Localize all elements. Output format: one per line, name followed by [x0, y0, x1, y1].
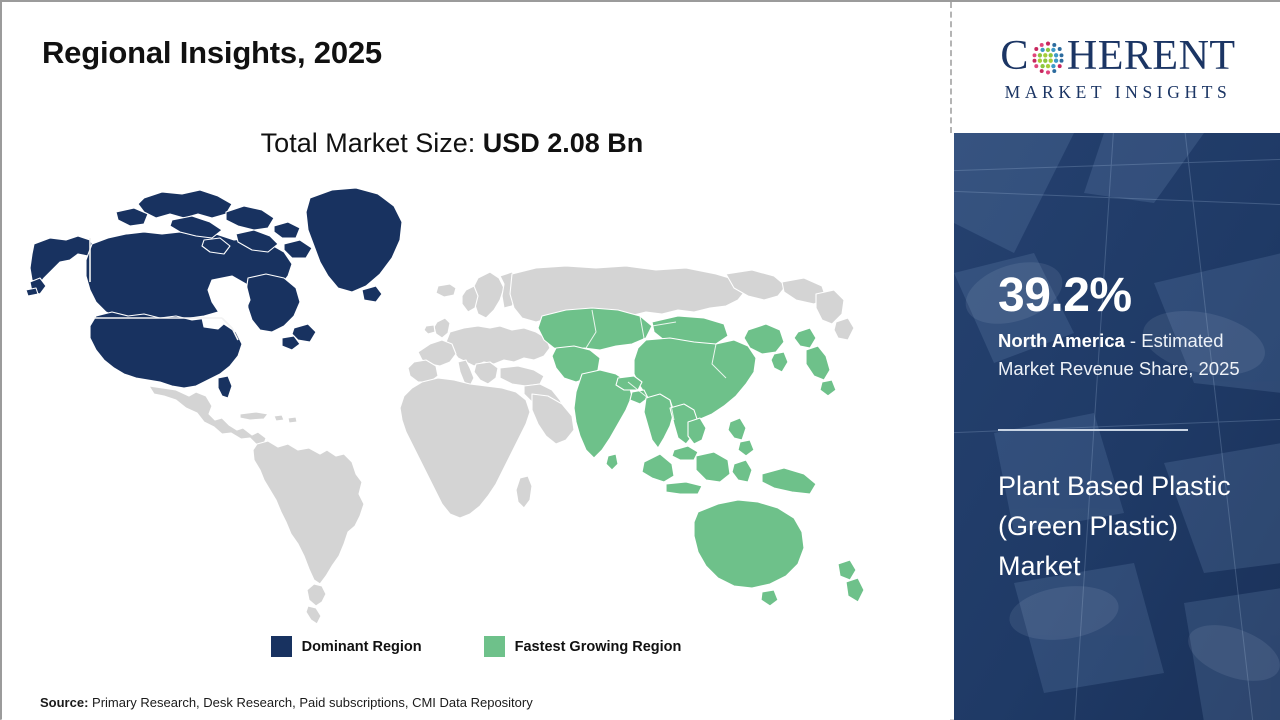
source-text: Primary Research, Desk Research, Paid su…: [88, 695, 532, 710]
page-title: Regional Insights, 2025: [42, 35, 382, 71]
total-market-size: Total Market Size: USD 2.08 Bn: [2, 128, 902, 159]
market-share-percent: 39.2%: [998, 272, 1132, 320]
brand-logo: C: [954, 2, 1280, 133]
slide-canvas: Regional Insights, 2025 Total Market Siz…: [0, 0, 1280, 720]
total-market-size-value: USD 2.08 Bn: [483, 128, 644, 158]
total-market-size-label: Total Market Size:: [261, 128, 483, 158]
world-map-svg: [26, 182, 906, 632]
info-panel: 39.2% North America - Estimated Market R…: [954, 133, 1280, 720]
world-map-container: [26, 182, 906, 632]
market-share-description: North America - Estimated Market Revenue…: [998, 327, 1250, 383]
legend-item-dominant: Dominant Region: [271, 636, 422, 657]
globe-dots-icon: [1030, 40, 1066, 76]
square-swatch-icon-fastest-growing: [484, 636, 505, 657]
right-panel: C: [954, 2, 1280, 720]
source-note: Source: Primary Research, Desk Research,…: [40, 695, 533, 710]
main-content-area: Regional Insights, 2025 Total Market Siz…: [2, 2, 950, 720]
panel-horizontal-rule: [998, 429, 1188, 431]
legend-label-dominant: Dominant Region: [302, 639, 422, 655]
square-swatch-icon-dominant: [271, 636, 292, 657]
logo-wordmark: C: [1000, 32, 1235, 80]
vertical-dashed-divider: [950, 2, 952, 133]
logo-word-herent: HERENT: [1067, 35, 1236, 77]
source-label: Source:: [40, 695, 88, 710]
info-panel-content: 39.2% North America - Estimated Market R…: [998, 133, 1248, 720]
market-share-region: North America: [998, 330, 1125, 351]
legend-label-fastest-growing: Fastest Growing Region: [515, 639, 682, 655]
logo-letter-c: C: [1000, 35, 1029, 77]
market-name: Plant Based Plastic (Green Plastic) Mark…: [998, 467, 1248, 587]
legend-item-fastest-growing: Fastest Growing Region: [484, 636, 682, 657]
map-region-fastest-growing: [538, 308, 864, 606]
map-legend: Dominant Region Fastest Growing Region: [2, 636, 950, 657]
logo-subtitle: MARKET INSIGHTS: [1005, 82, 1232, 103]
